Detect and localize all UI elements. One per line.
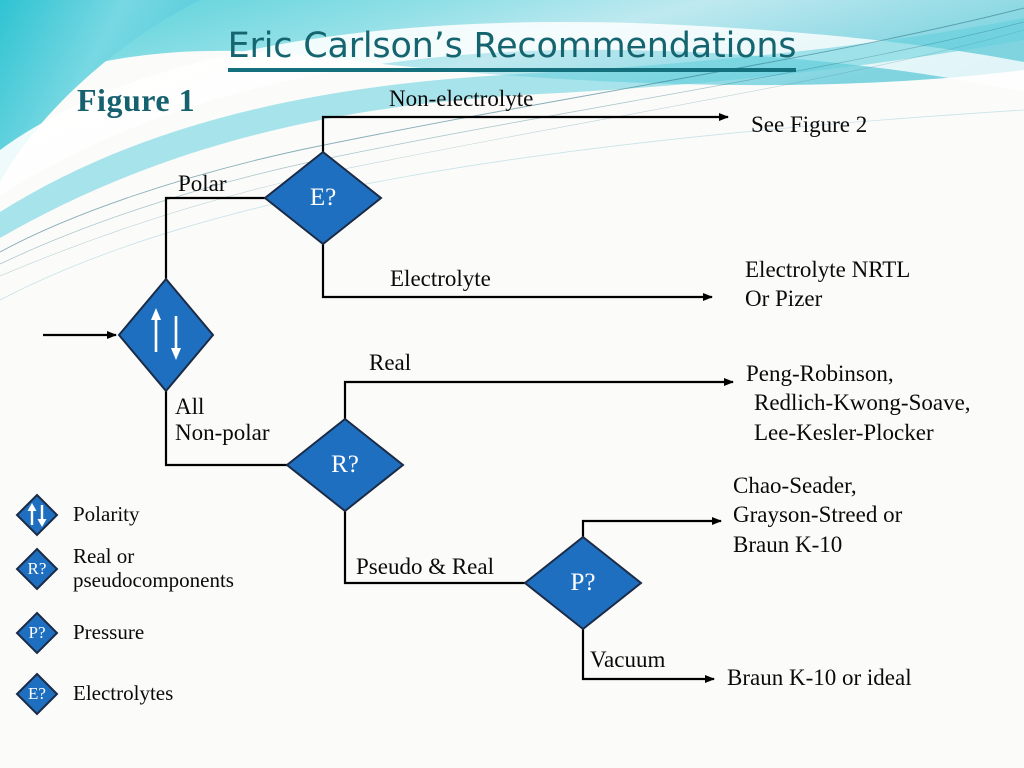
output-electrolyte-models-line1: Electrolyte NRTL bbox=[745, 255, 910, 284]
edge-label-real: Real bbox=[369, 350, 411, 376]
legend-label-pressure: Pressure bbox=[73, 621, 144, 645]
legend-label-electrolytes: Electrolytes bbox=[73, 682, 173, 706]
output-electrolyte-models-line2: Or Pizer bbox=[745, 284, 910, 313]
output-pseudo-models-line2: Grayson-Streed or bbox=[733, 500, 902, 529]
legend-item-real-or-pseudocomponents: R? Real or pseudocomponents bbox=[14, 545, 234, 593]
edge-non-electrolyte bbox=[323, 117, 728, 198]
r-question-icon-text: R? bbox=[14, 546, 60, 592]
e-question-icon: E? bbox=[14, 671, 60, 717]
output-electrolyte-models: Electrolyte NRTL Or Pizer bbox=[745, 255, 910, 314]
edge-label-pseudo-real: Pseudo & Real bbox=[356, 554, 494, 580]
edge-label-non-electrolyte: Non-electrolyte bbox=[389, 86, 533, 112]
legend-label-polarity: Polarity bbox=[73, 503, 140, 527]
edge-electrolyte bbox=[323, 198, 712, 297]
polarity-decision-shape[interactable] bbox=[119, 279, 213, 391]
electrolyte-decision-shape[interactable] bbox=[265, 152, 381, 244]
output-pseudo-models-line3: Braun K-10 bbox=[733, 530, 902, 559]
output-see-figure-2: See Figure 2 bbox=[751, 110, 867, 139]
output-eos-models-line2: Redlich-Kwong-Soave, bbox=[746, 388, 971, 417]
output-eos-models-line3: Lee-Kesler-Plocker bbox=[746, 418, 971, 447]
edge-real bbox=[345, 382, 733, 465]
edge-label-all-non-polar-line1: All bbox=[175, 394, 270, 420]
output-pseudo-models: Chao-Seader, Grayson-Streed or Braun K-1… bbox=[733, 471, 902, 559]
edge-label-all-non-polar-line2: Non-polar bbox=[175, 420, 270, 446]
pressure-decision-shape[interactable] bbox=[525, 537, 641, 629]
output-pseudo-models-line1: Chao-Seader, bbox=[733, 471, 902, 500]
legend-label-real-or-pseudocomponents: Real or pseudocomponents bbox=[73, 545, 234, 593]
legend-item-electrolytes: E? Electrolytes bbox=[14, 671, 173, 717]
legend-item-pressure: P? Pressure bbox=[14, 610, 144, 656]
output-eos-models-line1: Peng-Robinson, bbox=[746, 359, 971, 388]
edge-label-all-non-polar: All Non-polar bbox=[175, 394, 270, 446]
e-question-icon-text: E? bbox=[14, 671, 60, 717]
edge-label-electrolyte: Electrolyte bbox=[390, 266, 491, 292]
edge-label-vacuum: Vacuum bbox=[590, 647, 665, 673]
up-down-arrows-icon bbox=[14, 492, 60, 538]
legend-item-polarity: Polarity bbox=[14, 492, 140, 538]
p-question-icon-text: P? bbox=[14, 610, 60, 656]
edge-label-polar: Polar bbox=[178, 171, 227, 197]
r-question-icon: R? bbox=[14, 546, 60, 592]
slide-canvas: Eric Carlson’s Recommendations Figure 1 bbox=[0, 0, 1024, 768]
output-eos-models: Peng-Robinson, Redlich-Kwong-Soave, Lee-… bbox=[746, 359, 971, 447]
real-decision-shape[interactable] bbox=[287, 419, 403, 511]
p-question-icon: P? bbox=[14, 610, 60, 656]
output-vacuum-models: Braun K-10 or ideal bbox=[727, 663, 912, 692]
